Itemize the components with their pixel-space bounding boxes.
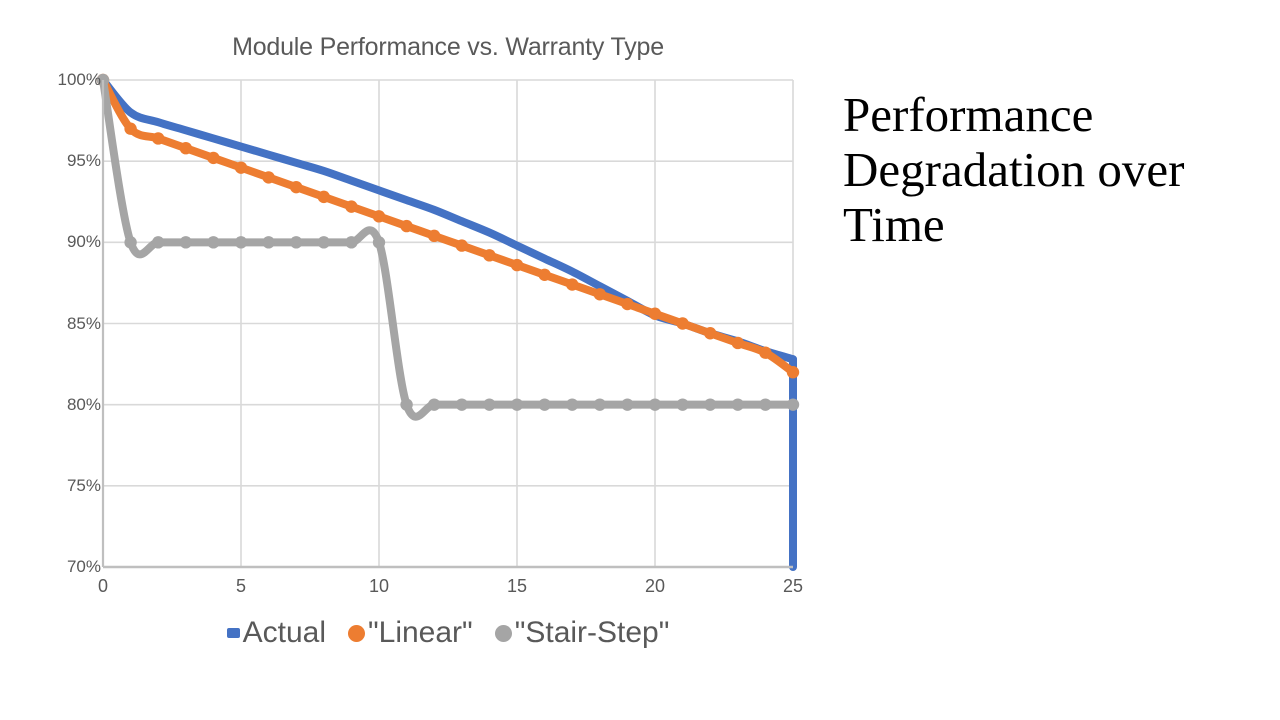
- series-marker-2-1: [124, 236, 136, 248]
- series-marker-1-22: [704, 327, 716, 339]
- series-marker-1-12: [428, 230, 440, 242]
- x-tick-label: 15: [497, 576, 537, 597]
- chart-container[interactable]: Module Performance vs. Warranty Type 70%…: [0, 0, 830, 700]
- side-heading: Performance Degradation over Time: [843, 88, 1263, 253]
- series-marker-1-19: [621, 298, 633, 310]
- series-marker-1-25: [787, 366, 799, 378]
- series-lines: [97, 74, 799, 567]
- legend-label: "Linear": [368, 618, 473, 648]
- series-line-2: [103, 80, 793, 417]
- legend-label: "Stair-Step": [515, 618, 670, 648]
- y-tick-label: 95%: [45, 151, 101, 171]
- series-marker-2-16: [538, 398, 550, 410]
- series-marker-1-16: [538, 269, 550, 281]
- series-marker-1-11: [400, 220, 412, 232]
- series-marker-1-13: [456, 239, 468, 251]
- series-marker-2-6: [262, 236, 274, 248]
- series-marker-2-20: [649, 398, 661, 410]
- legend-label: Actual: [243, 618, 326, 648]
- series-marker-2-8: [318, 236, 330, 248]
- series-marker-1-8: [318, 191, 330, 203]
- series-marker-2-7: [290, 236, 302, 248]
- y-tick-label: 80%: [45, 395, 101, 415]
- series-marker-1-23: [732, 337, 744, 349]
- series-marker-1-24: [759, 347, 771, 359]
- series-marker-2-12: [428, 398, 440, 410]
- series-marker-1-4: [207, 152, 219, 164]
- plot-svg: [103, 80, 793, 567]
- y-tick-label: 85%: [45, 314, 101, 334]
- series-marker-2-23: [732, 398, 744, 410]
- series-marker-2-3: [180, 236, 192, 248]
- y-tick-label: 75%: [45, 476, 101, 496]
- series-marker-2-14: [483, 398, 495, 410]
- series-marker-1-17: [566, 278, 578, 290]
- series-marker-2-15: [511, 398, 523, 410]
- series-line-1: [103, 80, 793, 372]
- series-marker-2-17: [566, 398, 578, 410]
- y-tick-label: 70%: [45, 557, 101, 577]
- legend-circle-marker-icon: [495, 625, 512, 642]
- series-marker-2-18: [594, 398, 606, 410]
- series-marker-2-25: [787, 398, 799, 410]
- series-marker-2-11: [400, 398, 412, 410]
- legend-square-marker-icon: [227, 628, 240, 638]
- series-marker-1-14: [483, 249, 495, 261]
- chart-title: Module Performance vs. Warranty Type: [103, 33, 793, 62]
- legend-entry[interactable]: "Linear": [348, 618, 473, 648]
- legend-circle-marker-icon: [348, 625, 365, 642]
- series-marker-1-2: [152, 132, 164, 144]
- y-tick-label: 100%: [45, 70, 101, 90]
- x-tick-label: 0: [83, 576, 123, 597]
- series-marker-2-19: [621, 398, 633, 410]
- x-tick-label: 5: [221, 576, 261, 597]
- series-marker-1-7: [290, 181, 302, 193]
- y-tick-label: 90%: [45, 232, 101, 252]
- series-marker-1-1: [124, 123, 136, 135]
- x-tick-label: 10: [359, 576, 399, 597]
- series-marker-2-13: [456, 398, 468, 410]
- slide-canvas: Module Performance vs. Warranty Type 70%…: [0, 0, 1280, 720]
- legend-entry[interactable]: Actual: [227, 618, 326, 648]
- series-marker-1-9: [345, 200, 357, 212]
- series-marker-1-15: [511, 259, 523, 271]
- series-marker-2-24: [759, 398, 771, 410]
- series-marker-1-20: [649, 308, 661, 320]
- series-marker-1-3: [180, 142, 192, 154]
- x-tick-label: 20: [635, 576, 675, 597]
- chart-legend[interactable]: Actual"Linear""Stair-Step": [103, 618, 793, 648]
- series-marker-1-6: [262, 171, 274, 183]
- series-marker-1-21: [676, 317, 688, 329]
- series-marker-2-2: [152, 236, 164, 248]
- x-tick-label: 25: [773, 576, 813, 597]
- series-marker-2-9: [345, 236, 357, 248]
- series-marker-2-21: [676, 398, 688, 410]
- series-marker-1-10: [373, 210, 385, 222]
- series-line-0: [103, 80, 793, 359]
- series-marker-2-10: [373, 236, 385, 248]
- series-marker-2-22: [704, 398, 716, 410]
- legend-entry[interactable]: "Stair-Step": [495, 618, 670, 648]
- series-marker-2-5: [235, 236, 247, 248]
- plot-area: [103, 80, 793, 567]
- series-marker-1-18: [594, 288, 606, 300]
- series-marker-1-5: [235, 161, 247, 173]
- series-marker-2-4: [207, 236, 219, 248]
